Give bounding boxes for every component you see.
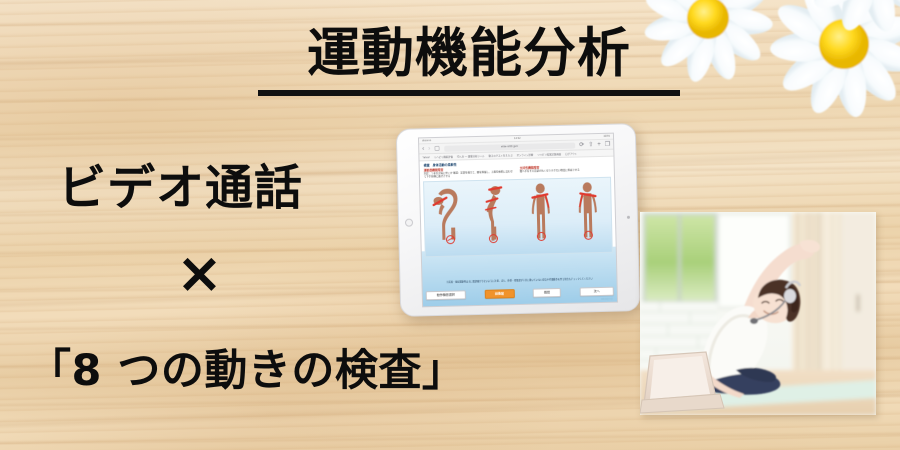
- chevron-right-icon[interactable]: ›: [428, 146, 430, 152]
- tabs-icon[interactable]: ❐: [605, 141, 611, 147]
- cross-multiply-icon: ×: [176, 246, 223, 302]
- status-carrier: docomo: [422, 139, 431, 142]
- forward-bend-figure[interactable]: [430, 183, 466, 246]
- reload-icon[interactable]: ⟳: [579, 142, 584, 148]
- bookmark-item[interactable]: Yahoo!: [422, 156, 429, 159]
- backward-bend-figure[interactable]: [477, 182, 513, 245]
- tablet-screen: docomo 14:32 100% ‹ › ▢ elite-tr00.jp/c …: [418, 133, 618, 308]
- bookmark-item[interactable]: ログアウト: [565, 152, 577, 156]
- tablet-camera-icon: [627, 216, 630, 219]
- instruction-body: 腰へ手をそえ背部が丸くなりすぎない程度に伸ばさせる: [520, 168, 610, 174]
- tablet-device: docomo 14:32 100% ‹ › ▢ elite-tr00.jp/c …: [396, 123, 641, 317]
- status-battery: 100%: [603, 135, 610, 138]
- web-app-page: 検査 身体活動の柔軟性 運動器機能障害 判定：つま先が床に付くか 確認：足部を揃…: [420, 157, 617, 307]
- action-button-row: 動作種目選択 前後屈 側屈 次へ: [426, 286, 614, 300]
- lateral-bend-button[interactable]: 側屈: [533, 288, 561, 298]
- bookmark-item[interactable]: ID入力 — 運動分析ツール: [457, 154, 485, 159]
- poster-title-block: 運動機能分析: [258, 24, 680, 96]
- next-button[interactable]: 次へ: [580, 286, 614, 296]
- title-underline: [258, 90, 680, 96]
- instruction-note: ※前屈・後屈運動時は主に腰部痛がでないように注意、また、体幹・骨盤部が十分に動い…: [425, 278, 613, 285]
- flexion-extension-button[interactable]: 前後屈: [484, 289, 514, 299]
- instruction-column-right: 支持性機能障害 腰へ手をそえ背部が丸くなりすぎない程度に伸ばさせる: [520, 164, 610, 177]
- side-bend-left-figure[interactable]: [523, 181, 559, 244]
- share-icon[interactable]: ⇧: [588, 142, 593, 148]
- side-bend-right-figure[interactable]: [570, 180, 606, 243]
- address-bar-url: elite-tr00.jp/c: [501, 145, 518, 148]
- anatomy-figure-row: [424, 178, 612, 257]
- chevron-left-icon[interactable]: ‹: [422, 146, 424, 152]
- bookmark-item[interactable]: リハビリ結果記録画面: [537, 152, 561, 157]
- plus-icon[interactable]: +: [597, 141, 601, 147]
- instruction-column-left: 運動器機能障害 判定：つま先が床に付くか 確認：足部を揃えて、膝を伸展し、上肢を…: [424, 166, 514, 179]
- bookmark-item[interactable]: オンライン診療: [516, 153, 533, 157]
- instruction-body: 判定：つま先が床に付くか 確認：足部を揃えて、膝を伸展し、上肢を体幹に沿わせて下…: [424, 170, 514, 179]
- address-bar[interactable]: elite-tr00.jp/c: [444, 142, 575, 151]
- bookmark-item[interactable]: リハビリ機能評価: [434, 155, 453, 159]
- headline-eight-movement-tests: 「8 つの動きの検査」: [28, 336, 465, 398]
- page-title: 運動機能分析: [258, 24, 680, 84]
- book-icon[interactable]: ▢: [434, 145, 440, 151]
- bookmark-item[interactable]: 動きのテストをえらぶ: [489, 153, 513, 158]
- page-watermark: 運動機能分析: [601, 298, 613, 301]
- joint-motion-select-button[interactable]: 動作種目選択: [426, 290, 466, 300]
- woman-stretching-with-laptop-photo: [640, 212, 876, 415]
- headline-video-call: ビデオ通話: [58, 148, 303, 218]
- status-time: 14:32: [514, 137, 521, 140]
- anatomy-figure-panel: [423, 177, 613, 258]
